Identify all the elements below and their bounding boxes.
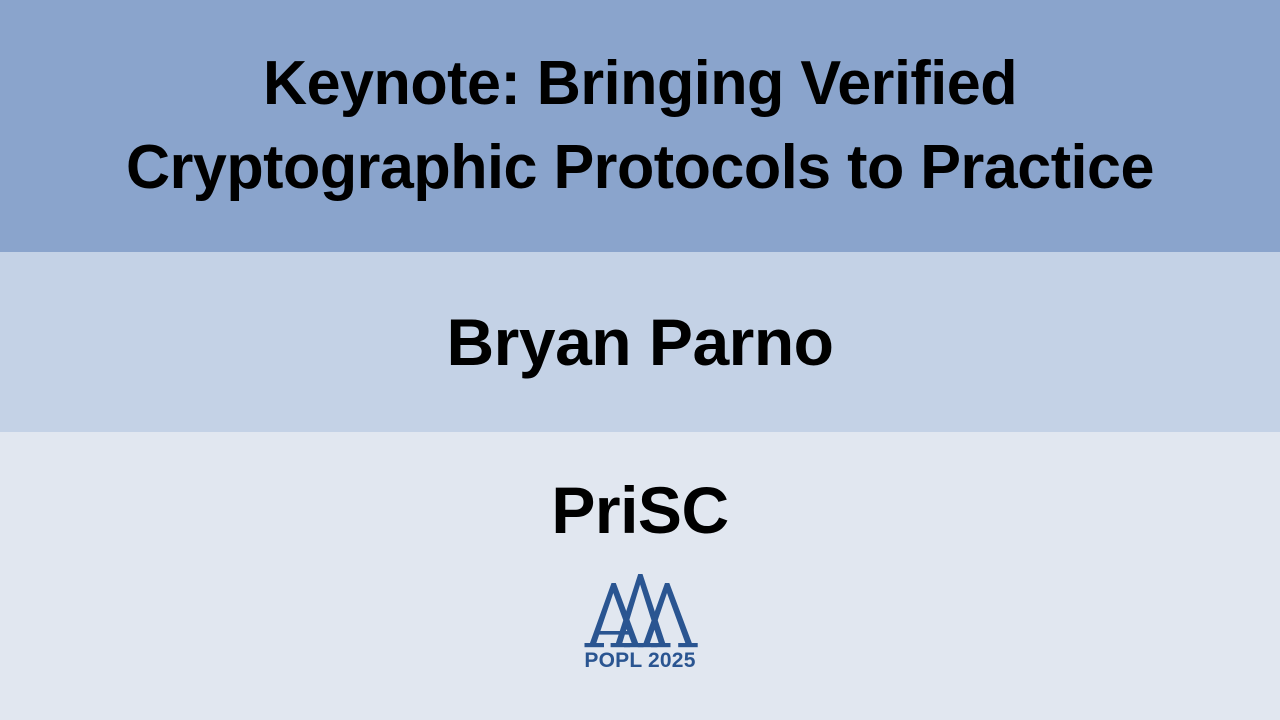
talk-title-card: Keynote: Bringing Verified Cryptographic… [0,0,1280,720]
venue-name: PriSC [551,474,728,546]
popl-2025-logo-icon: POPL 2025 [575,570,705,674]
venue-band: PriSC POPL 2025 [0,432,1280,720]
speaker-name: Bryan Parno [447,306,834,378]
title-band: Keynote: Bringing Verified Cryptographic… [0,0,1280,252]
speaker-band: Bryan Parno [0,252,1280,432]
popl-2025-logo-caption: POPL 2025 [584,649,695,672]
popl-2025-logo: POPL 2025 [575,570,705,674]
talk-title: Keynote: Bringing Verified Cryptographic… [34,42,1246,210]
